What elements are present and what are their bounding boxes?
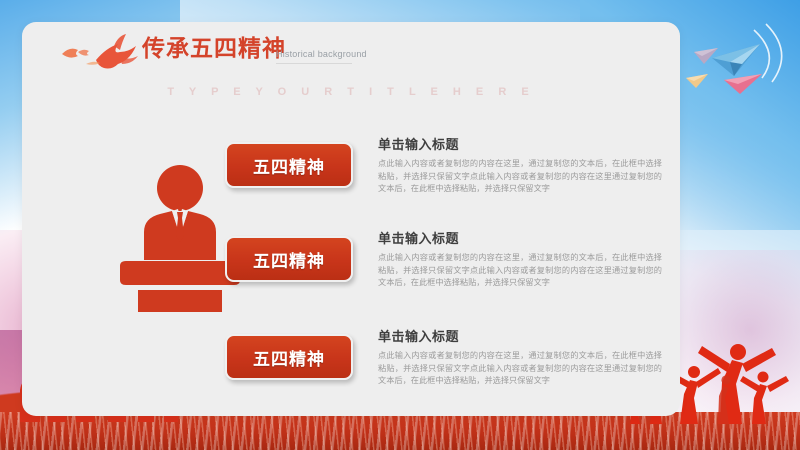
section-body: 点此输入内容或者复制您的内容在这里，通过复制您的文本后，在此框中选择粘贴，并选择… <box>378 157 662 195</box>
section-button-label: 五四精神 <box>253 247 325 272</box>
slide-canvas: 传承五四精神 Historical background T Y P E Y O… <box>0 0 800 450</box>
section-button-2[interactable]: 五四精神 <box>225 236 353 282</box>
content-card: 传承五四精神 Historical background T Y P E Y O… <box>22 22 680 416</box>
section-heading: 单击输入标题 <box>378 134 662 153</box>
section-button-1[interactable]: 五四精神 <box>225 142 353 188</box>
section-text-2: 单击输入标题 点此输入内容或者复制您的内容在这里，通过复制您的文本后，在此框中选… <box>378 228 662 289</box>
section-heading: 单击输入标题 <box>378 228 662 247</box>
section-text-1: 单击输入标题 点此输入内容或者复制您的内容在这里，通过复制您的文本后，在此框中选… <box>378 134 662 195</box>
section-text-3: 单击输入标题 点此输入内容或者复制您的内容在这里，通过复制您的文本后，在此框中选… <box>378 326 662 387</box>
header-divider <box>276 63 352 64</box>
section-row: 五四精神 单击输入标题 点此输入内容或者复制您的内容在这里，通过复制您的文本后，… <box>22 132 680 196</box>
section-heading: 单击输入标题 <box>378 326 662 345</box>
page-title: 传承五四精神 <box>142 34 286 64</box>
section-button-label: 五四精神 <box>253 345 325 370</box>
paper-planes-decoration <box>646 18 796 118</box>
section-row: 五四精神 单击输入标题 点此输入内容或者复制您的内容在这里，通过复制您的文本后，… <box>22 324 680 388</box>
section-button-label: 五四精神 <box>253 153 325 178</box>
section-body: 点此输入内容或者复制您的内容在这里，通过复制您的文本后，在此框中选择粘贴，并选择… <box>378 251 662 289</box>
section-body: 点此输入内容或者复制您的内容在这里，通过复制您的文本后，在此框中选择粘贴，并选择… <box>378 349 662 387</box>
section-button-3[interactable]: 五四精神 <box>225 334 353 380</box>
section-row: 五四精神 单击输入标题 点此输入内容或者复制您的内容在这里，通过复制您的文本后，… <box>22 226 680 290</box>
page-subtitle: Historical background <box>276 49 367 59</box>
flying-birds-icon <box>56 30 146 74</box>
